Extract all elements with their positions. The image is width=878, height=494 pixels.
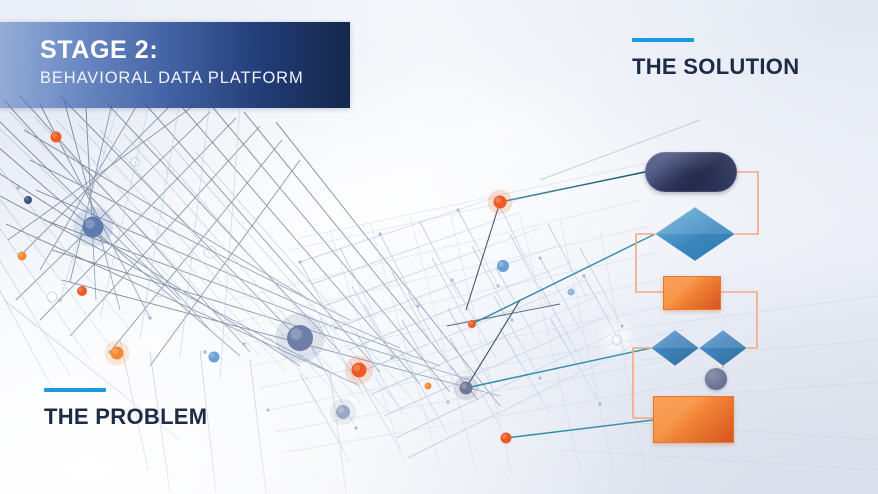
flow-process-rect-lower[interactable] — [653, 396, 734, 443]
label-the-solution: THE SOLUTION — [632, 38, 799, 78]
flow-process-rect-upper[interactable] — [663, 276, 721, 310]
accent-rule-problem — [44, 388, 106, 392]
decision-diamond-left-sheen — [651, 330, 699, 348]
flow-terminator-pill[interactable] — [645, 152, 737, 192]
slide-canvas: STAGE 2: BEHAVIORAL DATA PLATFORM THE SO… — [0, 0, 878, 494]
label-problem-text: THE PROBLEM — [44, 406, 207, 428]
stage-subtitle: BEHAVIORAL DATA PLATFORM — [40, 70, 304, 87]
title-banner: STAGE 2: BEHAVIORAL DATA PLATFORM — [0, 22, 350, 108]
flow-end-dot[interactable] — [705, 368, 727, 390]
decision-diamond-main-sheen — [655, 207, 735, 234]
stage-title: STAGE 2: — [40, 38, 158, 63]
accent-rule-solution — [632, 38, 694, 42]
label-the-problem: THE PROBLEM — [44, 388, 207, 428]
label-solution-text: THE SOLUTION — [632, 56, 799, 78]
decision-diamond-right-sheen — [699, 330, 747, 348]
